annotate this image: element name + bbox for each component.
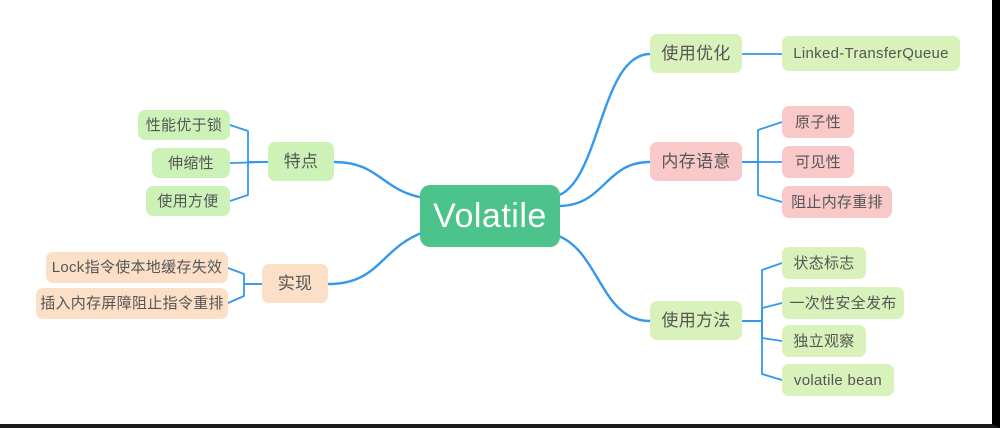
branch-node-features[interactable]: 特点 [268, 142, 334, 181]
leaf-node-atomicity[interactable]: 原子性 [782, 106, 854, 138]
branch-node-memory-semantics[interactable]: 内存语意 [650, 142, 742, 181]
edge-root-implementation [328, 232, 424, 284]
edge-features-easy [230, 162, 268, 201]
branch-node-implementation[interactable]: 实现 [262, 264, 328, 303]
edge-features-scalability [230, 162, 268, 163]
edge-features-performance [230, 125, 268, 162]
mindmap-canvas[interactable]: Volatile使用优化Linked-TransferQueue内存语意原子性可… [0, 0, 1000, 428]
edge-usage-volatile-bean [742, 321, 782, 380]
leaf-node-status-flag[interactable]: 状态标志 [782, 247, 866, 279]
leaf-node-easy-to-use[interactable]: 使用方便 [146, 186, 230, 216]
edge-usage-one-time [742, 303, 782, 321]
leaf-node-one-time-safe-publish[interactable]: 一次性安全发布 [782, 287, 904, 319]
leaf-node-volatile-bean[interactable]: volatile bean [782, 364, 894, 396]
leaf-node-memory-barrier-prevent-reorder[interactable]: 插入内存屏障阻止指令重排 [36, 288, 228, 319]
edge-memory-reorder [742, 162, 782, 202]
leaf-node-visibility[interactable]: 可见性 [782, 146, 854, 178]
branch-node-usage-optimization[interactable]: 使用优化 [650, 34, 742, 73]
leaf-node-independent-observation[interactable]: 独立观察 [782, 325, 866, 357]
edge-impl-barrier [228, 284, 262, 303]
edge-root-usage-optimization [556, 54, 650, 196]
edge-usage-independent [742, 321, 782, 341]
edge-root-usage-methods [556, 235, 650, 321]
leaf-node-performance-better-than-lock[interactable]: 性能优于锁 [138, 110, 230, 140]
edge-root-features [334, 162, 424, 198]
leaf-node-scalability[interactable]: 伸缩性 [152, 148, 230, 178]
edge-usage-status-flag [742, 263, 782, 321]
leaf-node-linked-transfer-queue[interactable]: Linked-TransferQueue [782, 36, 960, 71]
leaf-node-lock-invalidate-local-cache[interactable]: Lock指令使本地缓存失效 [46, 252, 228, 283]
leaf-node-prevent-reorder[interactable]: 阻止内存重排 [782, 186, 892, 218]
root-node-volatile[interactable]: Volatile [420, 185, 560, 247]
branch-node-usage-methods[interactable]: 使用方法 [650, 301, 742, 340]
edge-impl-lock [228, 268, 262, 284]
edge-memory-atomicity [742, 122, 782, 162]
edge-root-memory-semantics [560, 162, 650, 206]
